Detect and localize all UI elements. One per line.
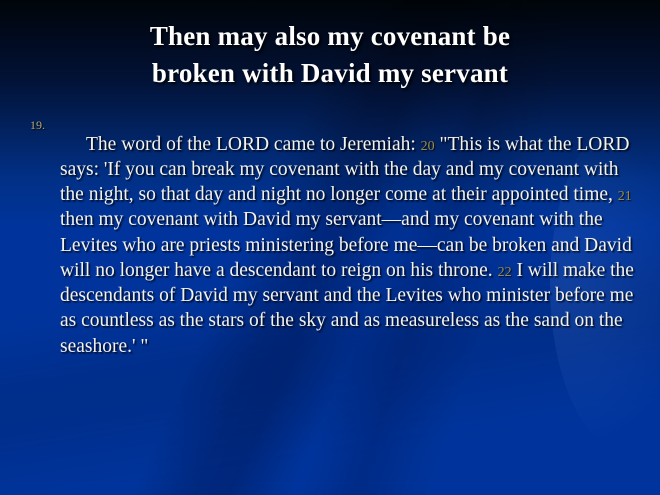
presentation-slide: Then may also my covenant be broken with…	[0, 0, 660, 495]
list-item: 19. The word of the LORD came to Jeremia…	[30, 112, 636, 378]
list-item-number: 19.	[30, 112, 60, 131]
verse-number: 21	[618, 189, 632, 204]
scripture-passage: The word of the LORD came to Jeremiah: 2…	[60, 132, 636, 359]
slide-title: Then may also my covenant be broken with…	[40, 18, 620, 93]
slide-title-line-1: Then may also my covenant be	[40, 18, 620, 55]
verse-number: 20	[421, 139, 435, 154]
verse-number: 22	[498, 265, 512, 280]
slide-title-line-2: broken with David my servant	[40, 55, 620, 92]
slide-body: 19. The word of the LORD came to Jeremia…	[30, 112, 636, 378]
